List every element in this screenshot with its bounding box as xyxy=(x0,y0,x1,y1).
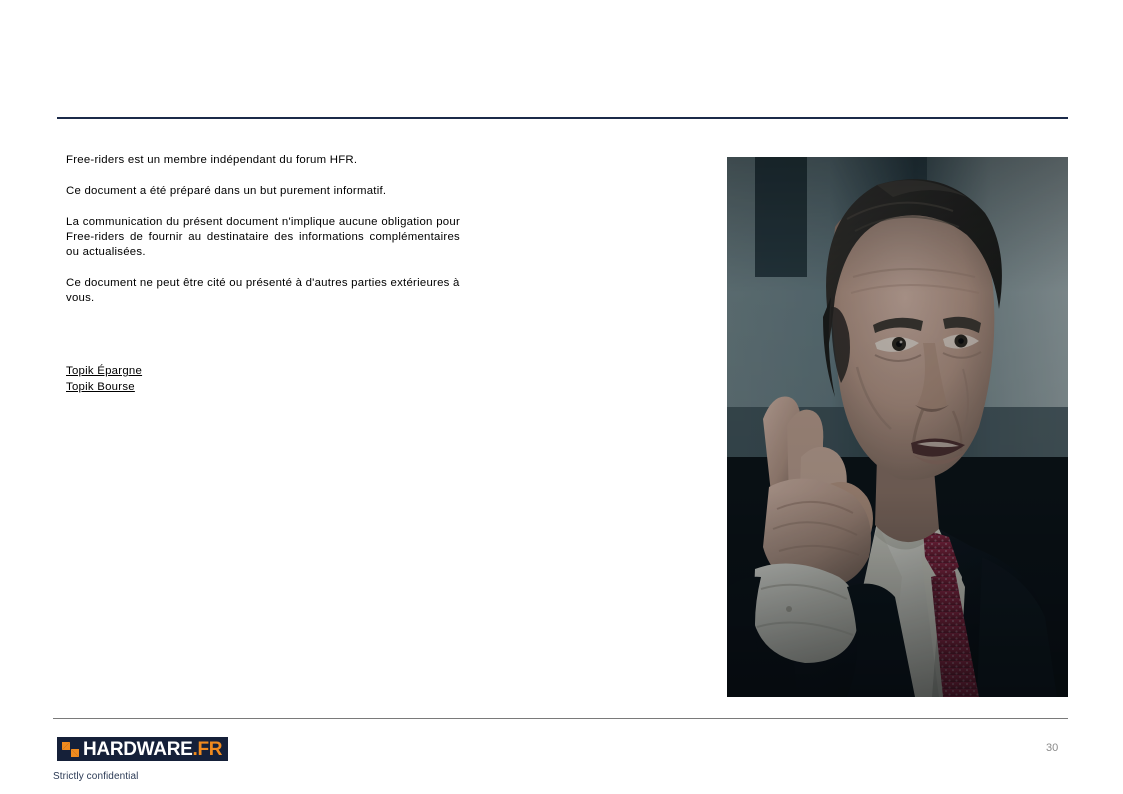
link-topik-epargne[interactable]: Topik Épargne xyxy=(66,364,142,380)
portrait-photo xyxy=(727,157,1068,697)
footer-rule xyxy=(53,718,1068,719)
link-topik-bourse[interactable]: Topik Bourse xyxy=(66,380,135,396)
hardware-fr-logo: HARDWARE.FR xyxy=(57,737,228,761)
logo-brand: HARDWARE xyxy=(83,739,193,760)
paragraph-citation: Ce document ne peut être cité ou présent… xyxy=(66,276,460,306)
paragraph-obligation: La communication du présent document n'i… xyxy=(66,215,460,260)
page-number: 30 xyxy=(1046,742,1058,754)
header-rule xyxy=(57,117,1068,119)
topik-links: Topik Épargne Topik Bourse xyxy=(66,364,142,395)
slide: Free-riders est un membre indépendant du… xyxy=(0,0,1123,794)
disclaimer-text-block: Free-riders est un membre indépendant du… xyxy=(66,153,460,306)
logo-wordmark: HARDWARE.FR xyxy=(83,740,222,759)
portrait-illustration xyxy=(727,157,1068,697)
paragraph-intro: Free-riders est un membre indépendant du… xyxy=(66,153,460,168)
logo-tld: FR xyxy=(197,739,222,760)
confidentiality-note: Strictly confidential xyxy=(53,771,138,782)
paragraph-purpose: Ce document a été préparé dans un but pu… xyxy=(66,184,460,199)
hardware-fr-bowtie-mark xyxy=(61,741,80,758)
